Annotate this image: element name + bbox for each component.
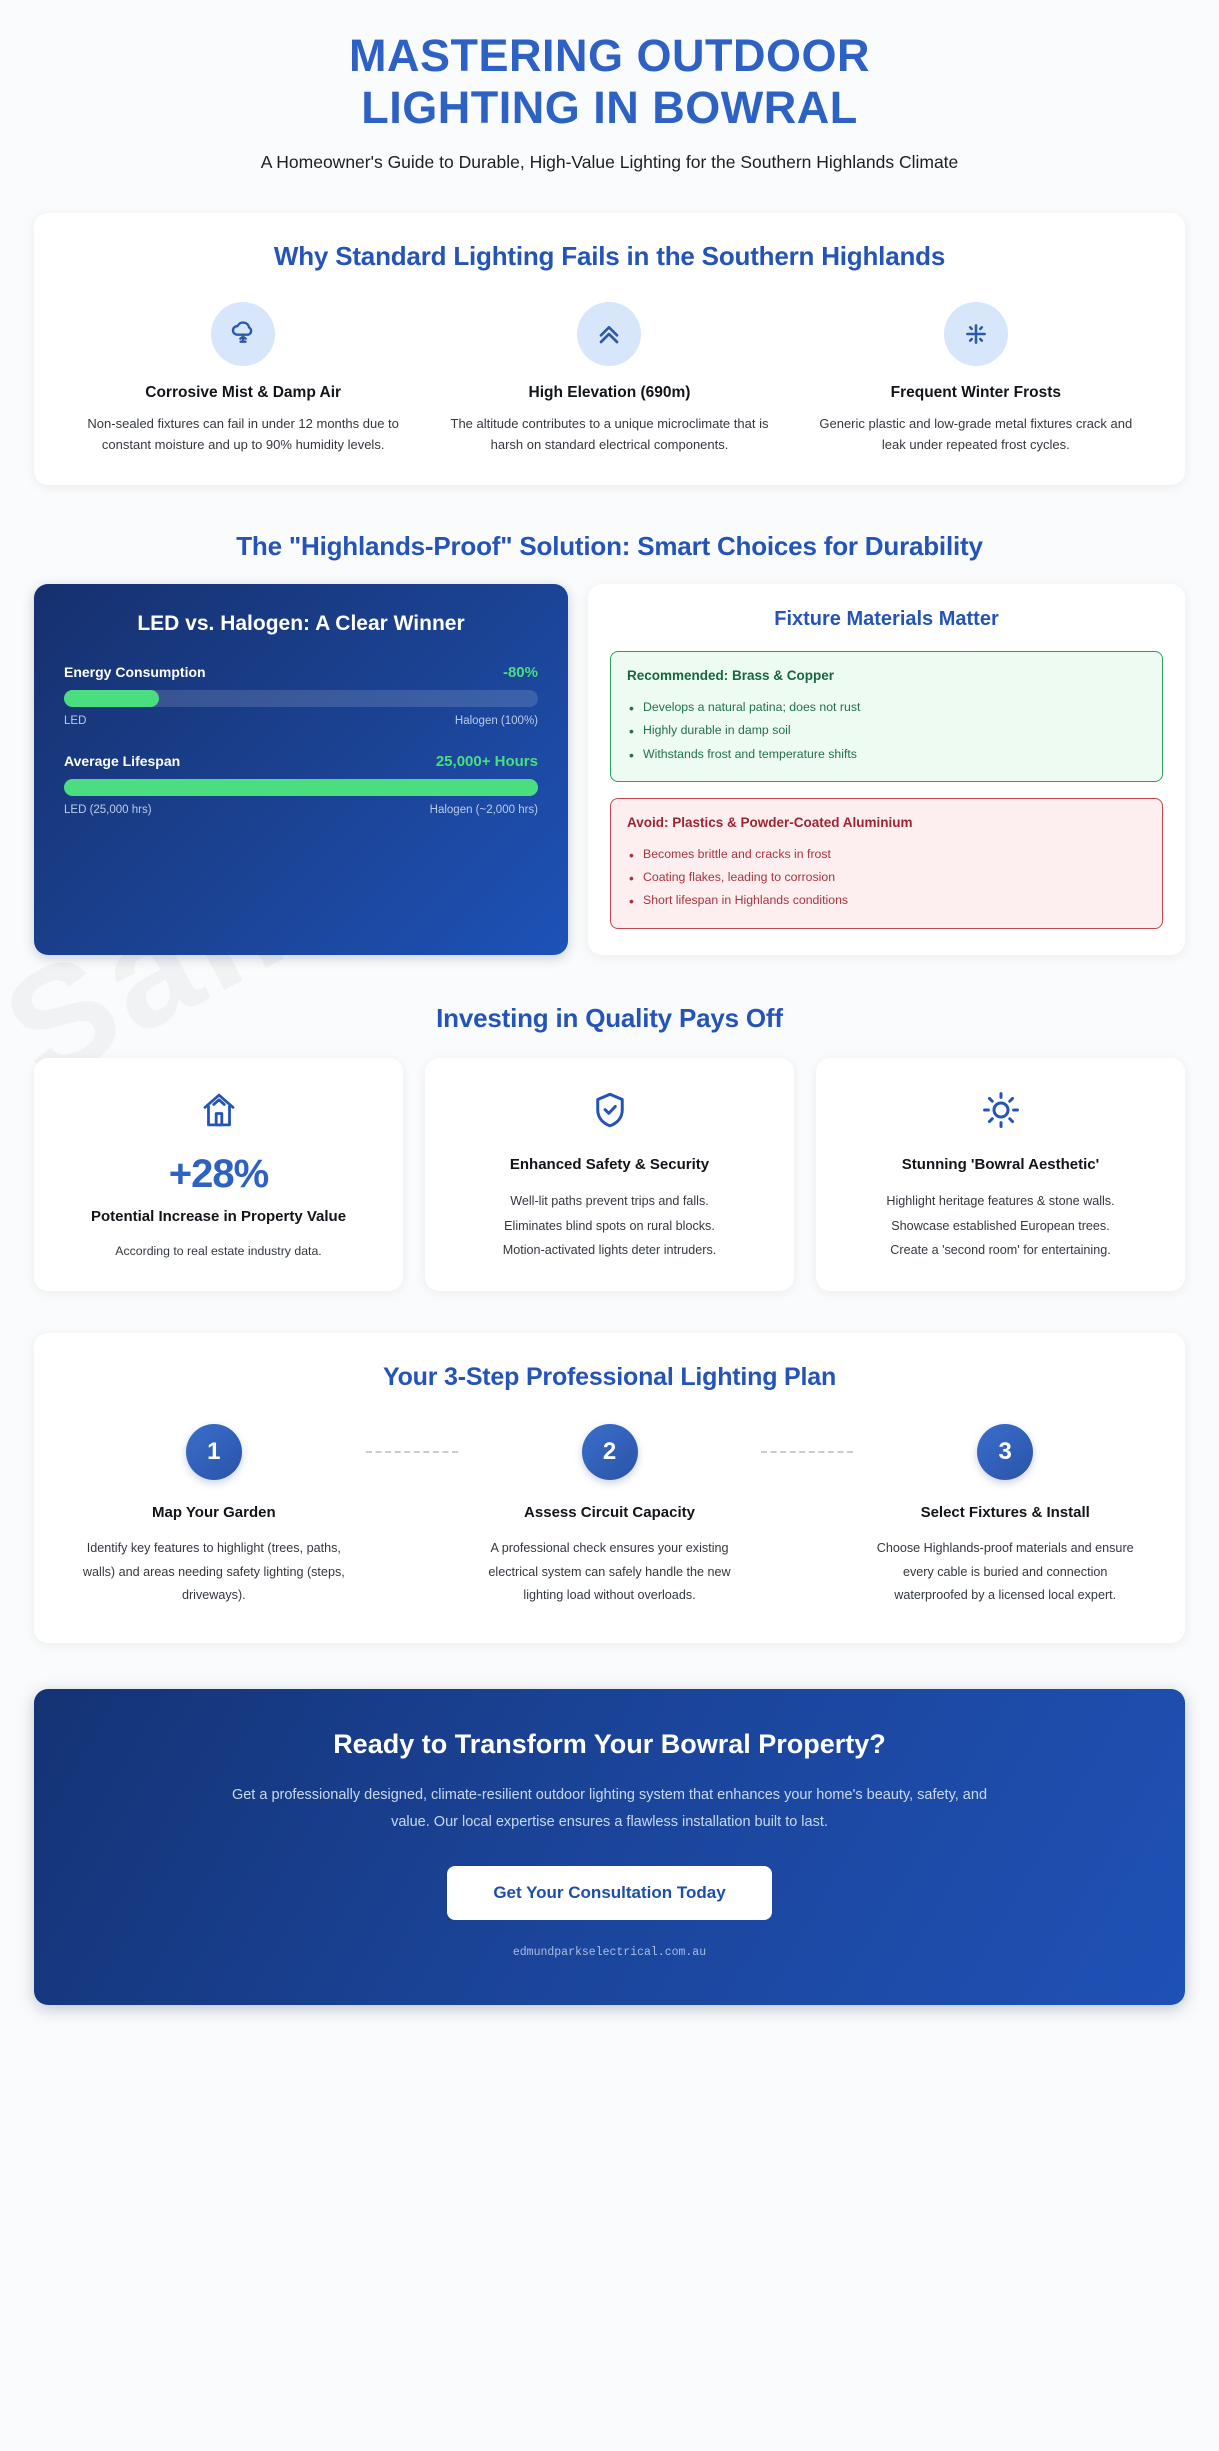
challenge-desc: Generic plastic and low-grade metal fixt… [809,413,1143,455]
solution-grid: LED vs. Halogen: A Clear Winner Energy C… [34,584,1185,954]
cta-section: Ready to Transform Your Bowral Property?… [34,1689,1185,2005]
metric-value: -80% [503,664,538,681]
benefit-lines: Highlight heritage features & stone wall… [838,1189,1163,1263]
benefit-line: Highlight heritage features & stone wall… [838,1189,1163,1214]
metric-average-lifespan: Average Lifespan 25,000+ Hours LED (25,0… [64,753,538,816]
infographic-page: Sample MASTERING OUTDOOR LIGHTING IN BOW… [0,0,1219,2451]
progress-track [64,779,538,796]
sun-icon [838,1084,1163,1136]
benefit-line: Showcase established European trees. [838,1214,1163,1239]
steps-section: Your 3-Step Professional Lighting Plan 1… [34,1333,1185,1643]
metric-header: Energy Consumption -80% [64,664,538,681]
metric-label: Average Lifespan [64,753,180,769]
materials-title: Fixture Materials Matter [610,608,1163,631]
step-number-badge: 3 [977,1424,1033,1480]
step-title: Map Your Garden [82,1502,346,1525]
benefit-title: Stunning 'Bowral Aesthetic' [838,1154,1163,1177]
benefits-grid: +28% Potential Increase in Property Valu… [34,1058,1185,1291]
benefit-card-property-value: +28% Potential Increase in Property Valu… [34,1058,403,1291]
step-number-badge: 1 [186,1424,242,1480]
double-chevron-up-icon [577,302,641,366]
benefit-card-safety: Enhanced Safety & Security Well-lit path… [425,1058,794,1291]
benefit-line: Well-lit paths prevent trips and falls. [447,1189,772,1214]
challenge-desc: The altitude contributes to a unique mic… [442,413,776,455]
step-title: Assess Circuit Capacity [478,1502,742,1525]
list-item: Coating flakes, leading to corrosion [627,866,1146,889]
progress-track [64,690,538,707]
bar-caption-left: LED [64,715,86,727]
shield-check-icon [447,1084,772,1136]
house-icon [56,1084,381,1136]
page-header: MASTERING OUTDOOR LIGHTING IN BOWRAL A H… [34,0,1185,173]
challenge-title: Frequent Winter Frosts [809,384,1143,402]
benefit-title: Enhanced Safety & Security [447,1154,772,1177]
led-comparison-card: LED vs. Halogen: A Clear Winner Energy C… [34,584,568,954]
steps-row: 1 Map Your Garden Identify key features … [62,1424,1157,1607]
step-item: 3 Select Fixtures & Install Choose Highl… [853,1424,1157,1607]
challenges-heading: Why Standard Lighting Fails in the South… [60,241,1159,272]
challenge-card: High Elevation (690m) The altitude contr… [426,302,792,455]
materials-card: Fixture Materials Matter Recommended: Br… [588,584,1185,954]
benefit-line: Create a 'second room' for entertaining. [838,1238,1163,1263]
metric-header: Average Lifespan 25,000+ Hours [64,753,538,770]
challenge-desc: Non-sealed fixtures can fail in under 12… [76,413,410,455]
progress-fill [64,779,538,796]
step-item: 2 Assess Circuit Capacity A professional… [458,1424,762,1607]
step-item: 1 Map Your Garden Identify key features … [62,1424,366,1607]
benefit-title: Potential Increase in Property Value [56,1206,381,1229]
led-card-title: LED vs. Halogen: A Clear Winner [64,612,538,636]
list-item: Short lifespan in Highlands conditions [627,889,1146,912]
challenge-title: High Elevation (690m) [442,384,776,402]
metric-label: Energy Consumption [64,664,206,680]
step-desc: Identify key features to highlight (tree… [82,1537,346,1607]
progress-fill [64,690,159,707]
step-title: Select Fixtures & Install [873,1502,1137,1525]
solution-heading: The "Highlands-Proof" Solution: Smart Ch… [34,531,1185,562]
challenges-section: Why Standard Lighting Fails in the South… [34,213,1185,485]
benefits-heading: Investing in Quality Pays Off [34,1003,1185,1034]
benefit-card-aesthetic: Stunning 'Bowral Aesthetic' Highlight he… [816,1058,1185,1291]
page-title-line2: LIGHTING IN BOWRAL [361,82,857,133]
recommended-title: Recommended: Brass & Copper [627,666,1146,686]
recommended-list: Develops a natural patina; does not rust… [627,696,1146,766]
list-item: Becomes brittle and cracks in frost [627,843,1146,866]
page-subtitle: A Homeowner's Guide to Durable, High-Val… [34,152,1185,173]
steps-heading: Your 3-Step Professional Lighting Plan [62,1363,1157,1392]
cta-body: Get a professionally designed, climate-r… [230,1782,990,1836]
challenge-card: Corrosive Mist & Damp Air Non-sealed fix… [60,302,426,455]
metric-value: 25,000+ Hours [436,753,538,770]
recommended-materials-box: Recommended: Brass & Copper Develops a n… [610,651,1163,782]
challenge-card: Frequent Winter Frosts Generic plastic a… [793,302,1159,455]
avoid-list: Becomes brittle and cracks in frost Coat… [627,843,1146,913]
benefit-line: Eliminates blind spots on rural blocks. [447,1214,772,1239]
cloud-fog-icon [211,302,275,366]
avoid-title: Avoid: Plastics & Powder-Coated Aluminiu… [627,813,1146,833]
challenge-title: Corrosive Mist & Damp Air [76,384,410,402]
benefit-line: Motion-activated lights deter intruders. [447,1238,772,1263]
list-item: Withstands frost and temperature shifts [627,743,1146,766]
benefit-lines: Well-lit paths prevent trips and falls. … [447,1189,772,1263]
step-desc: Choose Highlands-proof materials and ens… [873,1537,1137,1607]
cta-consultation-button[interactable]: Get Your Consultation Today [447,1866,771,1920]
challenges-grid: Corrosive Mist & Damp Air Non-sealed fix… [60,302,1159,455]
step-connector-dashed [366,1451,458,1453]
cta-website-url[interactable]: edmundparkselectrical.com.au [94,1946,1125,1959]
stat-value: +28% [56,1154,381,1194]
list-item: Develops a natural patina; does not rust [627,696,1146,719]
step-number-badge: 2 [582,1424,638,1480]
page-title: MASTERING OUTDOOR LIGHTING IN BOWRAL [34,30,1185,134]
snowflake-frost-icon [944,302,1008,366]
step-desc: A professional check ensures your existi… [478,1537,742,1607]
bar-caption-right: Halogen (100%) [455,715,538,727]
bar-caption-left: LED (25,000 hrs) [64,804,152,816]
bar-captions: LED Halogen (100%) [64,715,538,727]
avoid-materials-box: Avoid: Plastics & Powder-Coated Aluminiu… [610,798,1163,929]
step-connector-dashed [761,1451,853,1453]
bar-caption-right: Halogen (~2,000 hrs) [430,804,538,816]
metric-energy-consumption: Energy Consumption -80% LED Halogen (100… [64,664,538,727]
list-item: Highly durable in damp soil [627,719,1146,742]
cta-heading: Ready to Transform Your Bowral Property? [94,1729,1125,1760]
benefit-subtext: According to real estate industry data. [56,1241,381,1263]
bar-captions: LED (25,000 hrs) Halogen (~2,000 hrs) [64,804,538,816]
page-title-line1: MASTERING OUTDOOR [349,30,870,81]
